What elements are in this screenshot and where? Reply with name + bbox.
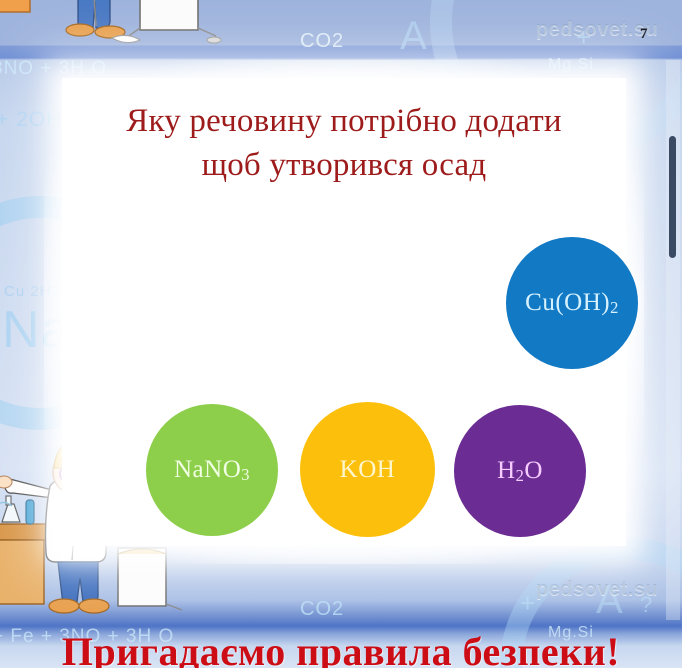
page-title-line-1: Яку речовину потрібно додати [62, 100, 626, 144]
answer-label-cu-oh-2: Cu(OH)2 [525, 289, 619, 318]
answer-option-h2o[interactable]: H2O [454, 405, 586, 537]
answer-label-nano3: NaNO3 [174, 456, 250, 485]
answer-label-h2o: H2O [497, 457, 543, 486]
page-title-line-2: щоб утворився осад [62, 144, 626, 188]
page-title: Яку речовину потрібно додати щоб утворив… [62, 100, 626, 187]
answer-option-nano3[interactable]: NaNO3 [146, 404, 278, 536]
scrollbar-thumb[interactable] [669, 136, 676, 258]
answer-option-cu-oh-2[interactable]: Cu(OH)2 [506, 237, 638, 369]
bottom-banner-text: Пригадаємо правила безпеки! [0, 628, 682, 668]
slide-number: 7 [640, 26, 648, 43]
answer-option-koh[interactable]: KOH [300, 402, 435, 537]
slide-stage: Na Cu 2H2O CO2 CO2 3NO + 3H O + Fe + 3NO… [0, 0, 682, 668]
answer-label-koh: KOH [340, 456, 396, 484]
